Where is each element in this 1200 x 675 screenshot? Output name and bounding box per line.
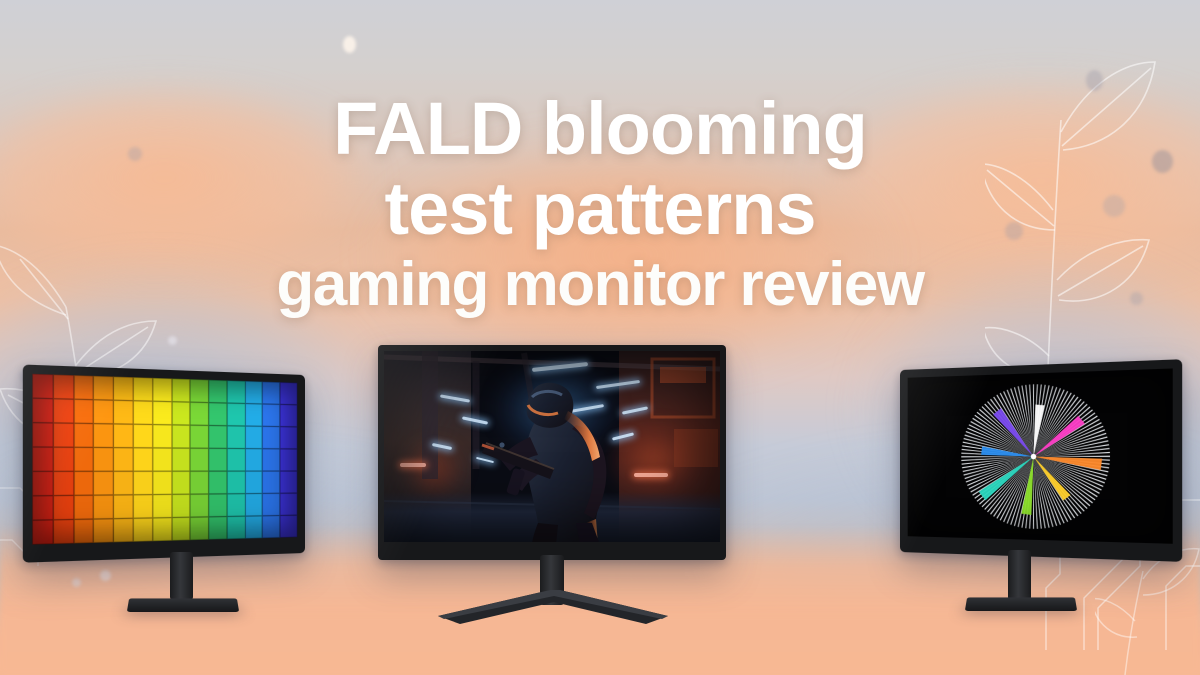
color-grid-cell bbox=[152, 518, 171, 542]
color-grid-cell bbox=[32, 447, 53, 471]
color-grid-cell bbox=[114, 376, 134, 400]
color-grid-cell bbox=[190, 517, 208, 540]
color-grid-cell bbox=[32, 398, 53, 423]
color-grid-cell bbox=[32, 471, 53, 495]
color-grid-cell bbox=[94, 447, 114, 471]
monitor-left-stand-neck bbox=[170, 552, 193, 600]
color-grid-cell bbox=[32, 520, 53, 545]
bokeh-dot bbox=[1086, 70, 1103, 91]
color-grid-cell bbox=[263, 404, 280, 427]
color-grid-cell bbox=[209, 425, 227, 448]
color-grid-cell bbox=[114, 448, 134, 472]
color-grid-cell bbox=[245, 449, 263, 472]
page-title: FALD blooming test patterns gaming monit… bbox=[0, 92, 1200, 316]
color-grid-cell bbox=[53, 495, 73, 519]
color-grid-cell bbox=[74, 495, 94, 519]
color-grid-cell bbox=[133, 377, 152, 401]
color-grid-cell bbox=[133, 448, 152, 472]
color-grid-cell bbox=[263, 449, 280, 471]
color-grid-cell bbox=[190, 379, 208, 402]
color-grid-cell bbox=[227, 516, 245, 539]
color-grid-cell bbox=[263, 493, 280, 516]
color-grid-cell bbox=[74, 519, 94, 543]
color-grid-cell bbox=[245, 493, 263, 516]
color-grid-cell bbox=[53, 447, 73, 471]
soldier-character bbox=[480, 373, 640, 542]
color-grid-cell bbox=[190, 471, 208, 494]
color-grid-cell bbox=[32, 496, 53, 521]
color-grid-cell bbox=[227, 471, 245, 494]
color-grid-cell bbox=[209, 380, 227, 403]
color-grid-cell bbox=[190, 402, 208, 425]
star-center bbox=[1031, 454, 1037, 459]
color-grid-cell bbox=[114, 400, 134, 424]
color-grid-cell bbox=[245, 516, 263, 539]
color-grid-cell bbox=[280, 493, 297, 515]
color-grid-cell bbox=[190, 448, 208, 471]
color-grid-cell bbox=[171, 402, 190, 425]
title-line-2: test patterns bbox=[0, 172, 1200, 246]
color-grid-cell bbox=[280, 404, 297, 427]
color-grid-cell bbox=[263, 515, 280, 538]
color-grid-cell bbox=[227, 448, 245, 471]
color-grid-cell bbox=[133, 471, 152, 495]
color-grid-cell bbox=[263, 382, 280, 405]
color-grid-cell bbox=[74, 447, 94, 471]
color-grid-cell bbox=[94, 400, 114, 424]
monitor-left-stand-base bbox=[127, 598, 239, 612]
color-grid-cell bbox=[245, 403, 263, 426]
color-grid-cell bbox=[152, 448, 171, 471]
bokeh-dot bbox=[72, 578, 81, 587]
title-line-3: gaming monitor review bbox=[0, 254, 1200, 316]
color-grid-cell bbox=[209, 471, 227, 494]
color-grid-cell bbox=[171, 494, 190, 517]
color-grid-cell bbox=[280, 449, 297, 471]
color-grid-cell bbox=[190, 494, 208, 517]
color-grid-cell bbox=[171, 517, 190, 541]
color-grid-cell bbox=[32, 423, 53, 448]
color-grid-cell bbox=[114, 471, 134, 495]
color-grid-cell bbox=[171, 448, 190, 471]
color-grid-cell bbox=[152, 425, 171, 448]
color-grid-cell bbox=[114, 518, 134, 542]
bokeh-dot bbox=[343, 36, 356, 53]
color-grid-cell bbox=[53, 471, 73, 495]
color-grid-cell bbox=[94, 519, 114, 543]
bokeh-dot bbox=[100, 570, 111, 581]
color-grid-cell bbox=[53, 374, 73, 399]
color-grid-cell bbox=[245, 426, 263, 449]
color-grid-cell bbox=[227, 403, 245, 426]
color-grid-cell bbox=[94, 376, 114, 400]
color-grid-cell bbox=[171, 425, 190, 448]
color-grid-cell bbox=[94, 471, 114, 495]
color-grid-cell bbox=[152, 378, 171, 402]
color-grid-pattern bbox=[32, 374, 297, 545]
color-grid-cell bbox=[209, 516, 227, 539]
neon-strip-red bbox=[400, 463, 426, 467]
monitor-right-stand-base bbox=[965, 597, 1077, 611]
color-grid-cell bbox=[152, 494, 171, 518]
monitor-left bbox=[23, 364, 305, 570]
color-grid-cell bbox=[133, 401, 152, 425]
color-grid-cell bbox=[263, 426, 280, 449]
color-grid-cell bbox=[280, 427, 297, 449]
color-grid-cell bbox=[133, 518, 152, 542]
color-grid-cell bbox=[114, 495, 134, 519]
color-grid-cell bbox=[32, 374, 53, 399]
siemens-star-pattern bbox=[908, 368, 1173, 543]
color-grid-cell bbox=[227, 426, 245, 449]
color-grid-cell bbox=[53, 423, 73, 447]
color-grid-cell bbox=[152, 471, 171, 494]
color-grid-cell bbox=[190, 425, 208, 448]
title-line-1: FALD blooming bbox=[0, 92, 1200, 166]
color-grid-cell bbox=[280, 515, 297, 538]
monitor-center-stand-base bbox=[432, 590, 672, 626]
color-grid-cell bbox=[152, 401, 171, 425]
color-grid-cell bbox=[74, 423, 94, 447]
game-scene bbox=[384, 351, 720, 542]
color-grid-cell bbox=[227, 380, 245, 403]
color-grid-cell bbox=[94, 495, 114, 519]
color-grid-cell bbox=[227, 494, 245, 517]
color-grid-cell bbox=[245, 381, 263, 404]
color-grid-cell bbox=[94, 424, 114, 448]
color-grid-cell bbox=[171, 378, 190, 402]
monitor-right-stand-neck bbox=[1008, 550, 1031, 600]
color-grid-cell bbox=[280, 382, 297, 405]
thumbnail-canvas: FALD blooming test patterns gaming monit… bbox=[0, 0, 1200, 675]
color-grid-cell bbox=[53, 399, 73, 424]
color-grid-cell bbox=[74, 399, 94, 423]
color-grid-cell bbox=[209, 403, 227, 426]
monitor-center bbox=[378, 345, 726, 560]
bokeh-dot bbox=[168, 336, 177, 345]
color-grid-cell bbox=[171, 471, 190, 494]
color-grid-cell bbox=[209, 448, 227, 471]
color-grid-cell bbox=[53, 519, 73, 544]
monitor-right bbox=[900, 359, 1182, 571]
color-grid-cell bbox=[209, 494, 227, 517]
color-grid-cell bbox=[245, 471, 263, 494]
color-grid-cell bbox=[263, 471, 280, 493]
color-grid-cell bbox=[133, 424, 152, 448]
color-grid-cell bbox=[74, 375, 94, 400]
color-grid-cell bbox=[280, 471, 297, 493]
color-grid-cell bbox=[133, 495, 152, 519]
color-grid-cell bbox=[74, 471, 94, 495]
color-grid-cell bbox=[114, 424, 134, 448]
